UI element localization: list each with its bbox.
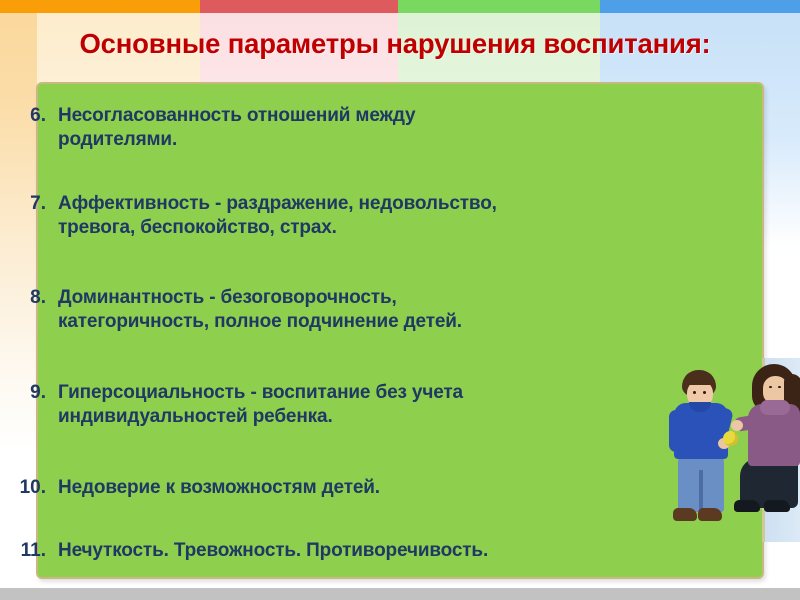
list-item: 7. Аффективность - раздражение, недоволь… (0, 192, 800, 240)
top-color-band (0, 0, 800, 13)
list-item-line: Недоверие к возможностям детей. (58, 476, 380, 500)
slide: Основные параметры нарушения воспитания: (0, 0, 800, 600)
list-item: 8. Доминантность - безоговорочность, кат… (0, 286, 800, 334)
list-item-line: индивидуальностей ребенка. (58, 405, 463, 429)
color-chip-green (398, 0, 600, 13)
list-item-line: Доминантность - безоговорочность, (58, 286, 462, 310)
color-chip-orange (0, 0, 200, 13)
list-item-line: родителями. (58, 128, 415, 152)
list-item-text: Гиперсоциальность - воспитание без учета… (58, 381, 463, 429)
list-item-line: Гиперсоциальность - воспитание без учета (58, 381, 463, 405)
list-item-number: 11. (0, 539, 58, 563)
list-item: 9. Гиперсоциальность - воспитание без уч… (0, 381, 800, 429)
list-item-text: Недоверие к возможностям детей. (58, 476, 380, 500)
list-item-text: Аффективность - раздражение, недовольств… (58, 192, 497, 240)
list-item-line: Нечуткость. Тревожность. Противоречивост… (58, 539, 488, 563)
bottom-gray-bar (0, 588, 800, 600)
list-item-line: категоричность, полное подчинение детей. (58, 310, 462, 334)
list-item-text: Несогласованность отношений между родите… (58, 104, 415, 152)
list-item-number: 8. (0, 286, 58, 310)
list-item-line: тревога, беспокойство, страх. (58, 216, 497, 240)
list-item-number: 10. (0, 476, 58, 500)
list-item-number: 6. (0, 104, 58, 128)
parameters-list: 6. Несогласованность отношений между род… (0, 96, 800, 576)
color-chip-blue (600, 0, 800, 13)
list-item: 10. Недоверие к возможностям детей. (0, 476, 800, 500)
list-item-number: 7. (0, 192, 58, 216)
list-item: 6. Несогласованность отношений между род… (0, 104, 800, 152)
list-item: 11. Нечуткость. Тревожность. Противоречи… (0, 539, 800, 563)
list-item-text: Нечуткость. Тревожность. Противоречивост… (58, 539, 488, 563)
page-title: Основные параметры нарушения воспитания: (0, 28, 790, 60)
list-item-line: Несогласованность отношений между (58, 104, 415, 128)
list-item-number: 9. (0, 381, 58, 405)
list-item-line: Аффективность - раздражение, недовольств… (58, 192, 497, 216)
list-item-text: Доминантность - безоговорочность, катего… (58, 286, 462, 334)
color-chip-red (200, 0, 398, 13)
